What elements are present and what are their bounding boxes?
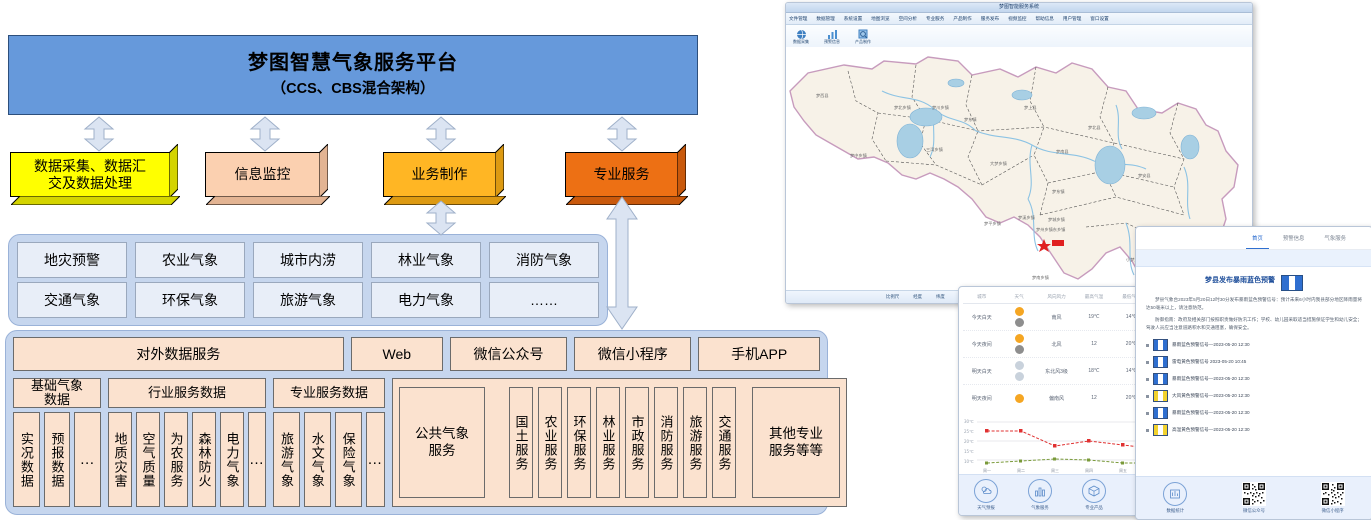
- arrow-professional-to-channels: [604, 196, 640, 330]
- dock-item-professional-product[interactable]: 专业产品: [1082, 479, 1106, 511]
- spacer: [490, 387, 504, 498]
- svg-text:15℃: 15℃: [964, 449, 974, 454]
- data-and-channels-panel: 对外数据服务 Web 微信公众号 微信小程序 手机APP 基础气象 数据 实况数…: [5, 330, 828, 515]
- alert-list-text: 高温黄色预警信号—2023-05-20 12:30: [1172, 427, 1250, 433]
- group-basic-weather-data: 基础气象 数据 实况数据 预报数据 …: [13, 378, 101, 507]
- tab-weather-service[interactable]: 气象服务: [1324, 234, 1346, 242]
- toolbar-button-alert-info[interactable]: 预警信息: [821, 27, 843, 45]
- service-cell[interactable]: 环保气象: [135, 282, 245, 318]
- data-item[interactable]: 空气质量: [136, 412, 160, 507]
- screenshot-collage: 梦图智能服务系统 文件管理 数据管理 系统设置 地图浏览 空间分析 专业服务 产…: [780, 0, 1371, 520]
- menu-item[interactable]: 视频监控: [1008, 16, 1026, 22]
- data-item-more[interactable]: …: [74, 412, 101, 507]
- channel-wechat-miniprogram[interactable]: 微信小程序: [574, 337, 691, 371]
- svg-text:梦平乡镇: 梦平乡镇: [984, 220, 1001, 227]
- yellow-heat-icon: [1153, 424, 1168, 436]
- service-cell[interactable]: ……: [489, 282, 599, 318]
- data-item[interactable]: 旅游气象: [273, 412, 300, 507]
- cell-weather: [1000, 307, 1037, 327]
- globe-icon: [796, 27, 807, 38]
- service-cell[interactable]: 地灾预警: [17, 242, 127, 278]
- menu-item[interactable]: 空间分析: [899, 16, 917, 22]
- pillar-label: 专业服务: [594, 166, 650, 182]
- data-groups-row: 基础气象 数据 实况数据 预报数据 … 行业服务数据 地质灾害 空气质量 为农服…: [13, 378, 820, 507]
- toolbar-label: 产品制作: [855, 39, 871, 45]
- service-item[interactable]: 环保服务: [567, 387, 591, 498]
- column-header: 最高气温: [1075, 294, 1112, 300]
- cell-city: 今天夜间: [963, 341, 1000, 348]
- y-axis-ticks: 30℃25℃20℃ 15℃10℃: [964, 419, 974, 464]
- service-label-line2: 服务: [415, 443, 469, 460]
- arrow-business-to-services: [424, 200, 458, 236]
- service-label-line1: 公共气象: [415, 426, 469, 443]
- dock-item-wechat-official[interactable]: 微信公众号: [1242, 482, 1266, 514]
- cell-high: 19℃: [1075, 314, 1112, 320]
- group-items: 公共气象 服务 国土服务 农业服务 环保服务 林业服务 市政服务 消防服务 旅游…: [399, 387, 840, 498]
- cell-wind: 北风: [1038, 341, 1075, 348]
- bullet-icon: [1146, 378, 1149, 381]
- tab-alert-info[interactable]: 预警信息: [1283, 234, 1305, 242]
- service-item[interactable]: 市政服务: [625, 387, 649, 498]
- svg-text:梦溪乡镇: 梦溪乡镇: [1018, 214, 1035, 221]
- cell-high: 18℃: [1075, 368, 1112, 374]
- service-row-2: 交通气象 环保气象 旅游气象 电力气象 ……: [17, 282, 599, 318]
- data-item[interactable]: 实况数据: [13, 412, 40, 507]
- bullet-icon: [1146, 395, 1149, 398]
- group-items: 旅游气象 水文气象 保险气象 …: [273, 412, 385, 507]
- data-item-more[interactable]: …: [248, 412, 266, 507]
- yellow-wind-icon: [1153, 390, 1168, 402]
- service-cell[interactable]: 城市内涝: [253, 242, 363, 278]
- blue-rain-icon: [1153, 339, 1168, 351]
- alert-dock[interactable]: 数据统计: [1136, 476, 1371, 519]
- dock-label: 微信小程序: [1322, 508, 1344, 514]
- status-item: 纬度: [936, 294, 945, 300]
- group-header: 专业服务数据: [273, 378, 385, 408]
- group-header: 行业服务数据: [108, 378, 266, 408]
- svg-text:20℃: 20℃: [964, 439, 974, 444]
- alert-banner-strip: [1136, 250, 1371, 267]
- cell-wind: 偏南风: [1038, 395, 1075, 402]
- alert-headline-row: 梦县发布暴雨蓝色预警: [1146, 275, 1362, 291]
- box-shadow-bottom: [206, 196, 330, 205]
- spacer: [741, 387, 747, 498]
- data-item[interactable]: 水文气象: [304, 412, 331, 507]
- platform-title: 梦图智慧气象服务平台: [248, 52, 458, 75]
- group-header-line2: 数据: [31, 393, 83, 407]
- channel-mobile-app[interactable]: 手机APP: [698, 337, 820, 371]
- gis-menu-bar[interactable]: 文件管理 数据管理 系统设置 地图浏览 空间分析 专业服务 产品制作 服务发布 …: [786, 13, 1252, 25]
- weather-icon: [1000, 361, 1037, 381]
- pillar-business-production[interactable]: 业务制作: [383, 152, 496, 197]
- blue-thunder-icon: [1153, 356, 1168, 368]
- bullet-icon: [1146, 429, 1149, 432]
- service-label-line2: 服务等等: [769, 443, 823, 460]
- alert-content: 梦县发布暴雨蓝色预警 梦县气象台2023年5月20日12时30分发布暴雨蓝色预警…: [1136, 267, 1371, 436]
- cell-wind: 南风: [1038, 314, 1075, 321]
- tab-home[interactable]: 首页: [1252, 234, 1263, 242]
- group-public-and-professional-services: 公共气象 服务 国土服务 农业服务 环保服务 林业服务 市政服务 消防服务 旅游…: [392, 378, 847, 507]
- menu-item[interactable]: 文件管理: [789, 16, 807, 22]
- alert-list-item[interactable]: 暴雨蓝色预警信号—2023-05-20 12:30: [1146, 339, 1362, 351]
- svg-text:30℃: 30℃: [964, 419, 974, 424]
- dock-item-statistics[interactable]: 数据统计: [1163, 482, 1187, 514]
- weather-icon: [1000, 394, 1037, 403]
- service-cell[interactable]: 农业气象: [135, 242, 245, 278]
- service-cell[interactable]: 林业气象: [371, 242, 481, 278]
- channel-external-data[interactable]: 对外数据服务: [13, 337, 344, 371]
- alert-list-item[interactable]: 雷电黄色预警信号 2023-05-20 10:45: [1146, 356, 1362, 368]
- alert-tab-bar[interactable]: 首页 预警信息 气象服务: [1136, 227, 1371, 250]
- blue-rainstorm-signal-icon: [1281, 275, 1303, 291]
- box-shadow-right: [169, 144, 178, 198]
- toolbar-button-data-collection[interactable]: 数据采集: [790, 27, 812, 45]
- group-industry-service-data: 行业服务数据 地质灾害 空气质量 为农服务 森林防火 电力气象 …: [108, 378, 266, 507]
- architecture-diagram: 梦图智慧气象服务平台 （CCS、CBS混合架构） 数据采集、数据汇 交及数据处理…: [0, 0, 840, 520]
- menu-item[interactable]: 服务发布: [981, 16, 999, 22]
- menu-item[interactable]: 数据管理: [816, 16, 834, 22]
- arrow-platform-to-info-monitoring: [248, 116, 282, 152]
- gis-title-bar: 梦图智能服务系统: [786, 3, 1252, 13]
- svg-text:25℃: 25℃: [964, 429, 974, 434]
- data-item[interactable]: 预报数据: [44, 412, 71, 507]
- svg-text:梦东镇: 梦东镇: [1052, 188, 1065, 195]
- group-header: 基础气象 数据: [13, 378, 101, 408]
- cell-city: 今天白天: [963, 314, 1000, 321]
- service-cell[interactable]: 交通气象: [17, 282, 127, 318]
- svg-text:大梦乡镇: 大梦乡镇: [990, 160, 1007, 167]
- alert-list-item[interactable]: 暴雨蓝色预警信号—2023-05-20 12:30: [1146, 373, 1362, 385]
- menu-item[interactable]: 窗口设置: [1090, 16, 1108, 22]
- dock-item-wechat-miniprogram[interactable]: 微信小程序: [1321, 482, 1345, 514]
- svg-text:梦北乡镇: 梦北乡镇: [894, 104, 911, 111]
- bullet-icon: [1146, 412, 1149, 415]
- blue-rain-icon: [1153, 407, 1168, 419]
- svg-text:梦南乡镇: 梦南乡镇: [1032, 274, 1049, 281]
- service-row-1: 地灾预警 农业气象 城市内涝 林业气象 消防气象: [17, 242, 599, 278]
- box-shadow-right: [319, 144, 328, 198]
- menu-item[interactable]: 专业服务: [926, 16, 944, 22]
- box-shadow-right: [677, 144, 686, 198]
- data-item[interactable]: 电力气象: [220, 412, 244, 507]
- menu-item[interactable]: 地图浏览: [871, 16, 889, 22]
- statistics-icon: [1163, 482, 1187, 506]
- pillar-label: 信息监控: [235, 166, 291, 182]
- cell-weather: [1000, 334, 1037, 354]
- svg-text:周四: 周四: [1085, 467, 1093, 473]
- svg-text:梦川乡镇: 梦川乡镇: [932, 104, 949, 111]
- dock-item-weather-forecast[interactable]: 天气预报: [974, 479, 998, 511]
- box-shadow-right: [495, 144, 504, 198]
- dock-label: 气象服务: [1031, 505, 1049, 511]
- service-other-professional[interactable]: 其他专业 服务等等: [752, 387, 840, 498]
- dock-label: 数据统计: [1167, 508, 1185, 514]
- alert-paragraph: 梦县气象台2023年5月20日12时30分发布暴雨蓝色预警信号：预计未来6小时内…: [1146, 296, 1362, 311]
- svg-text:梦南县: 梦南县: [1056, 148, 1069, 155]
- service-label-line1: 其他专业: [769, 426, 823, 443]
- bullet-icon: [1146, 361, 1149, 364]
- alert-paragraph: 防御指南：政府及相关部门按照职责做好防汛工作；学校、幼儿园采取适当措施保证学生和…: [1146, 316, 1362, 331]
- group-professional-service-data: 专业服务数据 旅游气象 水文气象 保险气象 …: [273, 378, 385, 507]
- platform-banner: 梦图智慧气象服务平台 （CCS、CBS混合架构）: [8, 35, 698, 115]
- cell-city: 明天白天: [963, 368, 1000, 375]
- svg-text:周三: 周三: [1051, 467, 1059, 473]
- data-item-more[interactable]: …: [366, 412, 385, 507]
- weather-icon: [1000, 334, 1037, 354]
- channel-web[interactable]: Web: [351, 337, 443, 371]
- status-item: 比例尺: [886, 294, 899, 300]
- pillar-label-line2: 交及数据处理: [34, 175, 146, 191]
- svg-text:梦城乡镇: 梦城乡镇: [1048, 216, 1065, 223]
- qr-code-icon: [1321, 482, 1345, 506]
- cell-high: 12: [1075, 395, 1112, 401]
- service-item[interactable]: 农业服务: [538, 387, 562, 498]
- pillar-professional-service[interactable]: 专业服务: [565, 152, 678, 197]
- service-domains-panel: 地灾预警 农业气象 城市内涝 林业气象 消防气象 交通气象 环保气象 旅游气象 …: [8, 234, 608, 326]
- chart-bars-icon: [1028, 479, 1052, 503]
- data-item[interactable]: 保险气象: [335, 412, 362, 507]
- bullet-icon: [1146, 344, 1149, 347]
- toolbar-label: 数据采集: [793, 39, 809, 45]
- alert-mobile-panel[interactable]: 首页 预警信息 气象服务 梦县发布暴雨蓝色预警 梦县气象台2023年5月20日1…: [1135, 226, 1371, 520]
- menu-item[interactable]: 产品制作: [953, 16, 971, 22]
- alert-list-item[interactable]: 大风黄色预警信号—2023-05-20 12:30: [1146, 390, 1362, 402]
- box-shadow-bottom: [11, 196, 180, 205]
- pillar-label: 业务制作: [412, 166, 468, 182]
- alert-list-text: 暴雨蓝色预警信号—2023-05-20 12:30: [1172, 410, 1250, 416]
- column-header: 风向风力: [1038, 294, 1075, 300]
- svg-text:梦北县: 梦北县: [1088, 124, 1101, 131]
- cell-high: 12: [1075, 341, 1112, 347]
- data-item[interactable]: 地质灾害: [108, 412, 132, 507]
- sun-cloud-icon: [974, 479, 998, 503]
- service-item[interactable]: 国土服务: [509, 387, 533, 498]
- blue-rain-icon: [1153, 373, 1168, 385]
- alert-list[interactable]: 暴雨蓝色预警信号—2023-05-20 12:30 雷电黄色预警信号 2023-…: [1146, 339, 1362, 436]
- data-item[interactable]: 森林防火: [192, 412, 216, 507]
- status-item: 经度: [913, 294, 922, 300]
- arrow-platform-to-data-collection: [82, 116, 116, 152]
- group-items: 地质灾害 空气质量 为农服务 森林防火 电力气象 …: [108, 412, 266, 507]
- alert-list-text: 雷电黄色预警信号 2023-05-20 10:45: [1172, 359, 1246, 365]
- channel-row: 对外数据服务 Web 微信公众号 微信小程序 手机APP: [13, 337, 820, 371]
- svg-text:周一: 周一: [983, 467, 991, 473]
- gis-window-title: 梦图智能服务系统: [786, 3, 1252, 12]
- dock-item-weather-service[interactable]: 气象服务: [1028, 479, 1052, 511]
- pillar-label-line1: 数据采集、数据汇: [34, 158, 146, 174]
- svg-text:梦安县: 梦安县: [1138, 172, 1151, 179]
- menu-item[interactable]: 系统设置: [844, 16, 862, 22]
- qr-code-icon: [1242, 482, 1266, 506]
- group-header-line1: 基础气象: [31, 379, 83, 393]
- svg-text:10℃: 10℃: [964, 459, 974, 464]
- toolbar-button-product-making[interactable]: 产品制作: [852, 27, 874, 45]
- cell-weather: [1000, 361, 1037, 381]
- svg-text:梦上县: 梦上县: [1024, 104, 1037, 111]
- svg-text:三湾乡镇: 三湾乡镇: [926, 146, 943, 153]
- service-item[interactable]: 交通服务: [712, 387, 736, 498]
- cell-city: 明天夜间: [963, 395, 1000, 402]
- alert-headline: 梦县发布暴雨蓝色预警: [1205, 275, 1275, 285]
- alert-list-text: 暴雨蓝色预警信号—2023-05-20 12:30: [1172, 376, 1250, 382]
- svg-text:周二: 周二: [1017, 467, 1025, 473]
- chart-icon: [827, 27, 838, 38]
- cell-weather: [1000, 394, 1037, 403]
- arrow-platform-to-professional-service: [605, 116, 639, 152]
- dock-label: 微信公众号: [1243, 508, 1265, 514]
- data-item[interactable]: 为农服务: [164, 412, 188, 507]
- alert-list-item[interactable]: 暴雨蓝色预警信号—2023-05-20 12:30: [1146, 407, 1362, 419]
- svg-text:梦中乡镇: 梦中乡镇: [850, 152, 867, 159]
- svg-text:梦州乡镇东乡镇: 梦州乡镇东乡镇: [1036, 226, 1065, 233]
- service-cell[interactable]: 旅游气象: [253, 282, 363, 318]
- weather-icon: [1000, 307, 1037, 327]
- service-item[interactable]: 消防服务: [654, 387, 678, 498]
- column-header: 城市: [963, 294, 1000, 300]
- service-item[interactable]: 旅游服务: [683, 387, 707, 498]
- dock-label: 天气预报: [977, 505, 995, 511]
- service-cell[interactable]: 消防气象: [489, 242, 599, 278]
- cube-icon: [1082, 479, 1106, 503]
- svg-text:梦东镇: 梦东镇: [964, 116, 977, 123]
- platform-subtitle: （CCS、CBS混合架构）: [272, 77, 435, 98]
- cell-wind: 东北风3级: [1038, 368, 1075, 375]
- alert-list-text: 大风黄色预警信号—2023-05-20 12:30: [1172, 393, 1250, 399]
- svg-text:周五: 周五: [1119, 467, 1127, 473]
- pillar-data-collection[interactable]: 数据采集、数据汇 交及数据处理: [10, 152, 170, 197]
- pillar-info-monitoring[interactable]: 信息监控: [205, 152, 320, 197]
- service-cell[interactable]: 电力气象: [371, 282, 481, 318]
- magnifier-icon: [858, 27, 869, 38]
- service-public-weather[interactable]: 公共气象 服务: [399, 387, 485, 498]
- dock-label: 专业产品: [1085, 505, 1103, 511]
- service-item[interactable]: 林业服务: [596, 387, 620, 498]
- alert-list-text: 暴雨蓝色预警信号—2023-05-20 12:30: [1172, 342, 1250, 348]
- channel-wechat-official[interactable]: 微信公众号: [450, 337, 567, 371]
- group-items: 实况数据 预报数据 …: [13, 412, 101, 507]
- alert-list-item[interactable]: 高温黄色预警信号—2023-05-20 12:30: [1146, 424, 1362, 436]
- arrow-platform-to-business-production: [424, 116, 458, 152]
- menu-item[interactable]: 帮助信息: [1036, 16, 1054, 22]
- toolbar-label: 预警信息: [824, 39, 840, 45]
- menu-item[interactable]: 用户管理: [1063, 16, 1081, 22]
- column-header: 天气: [1000, 294, 1037, 300]
